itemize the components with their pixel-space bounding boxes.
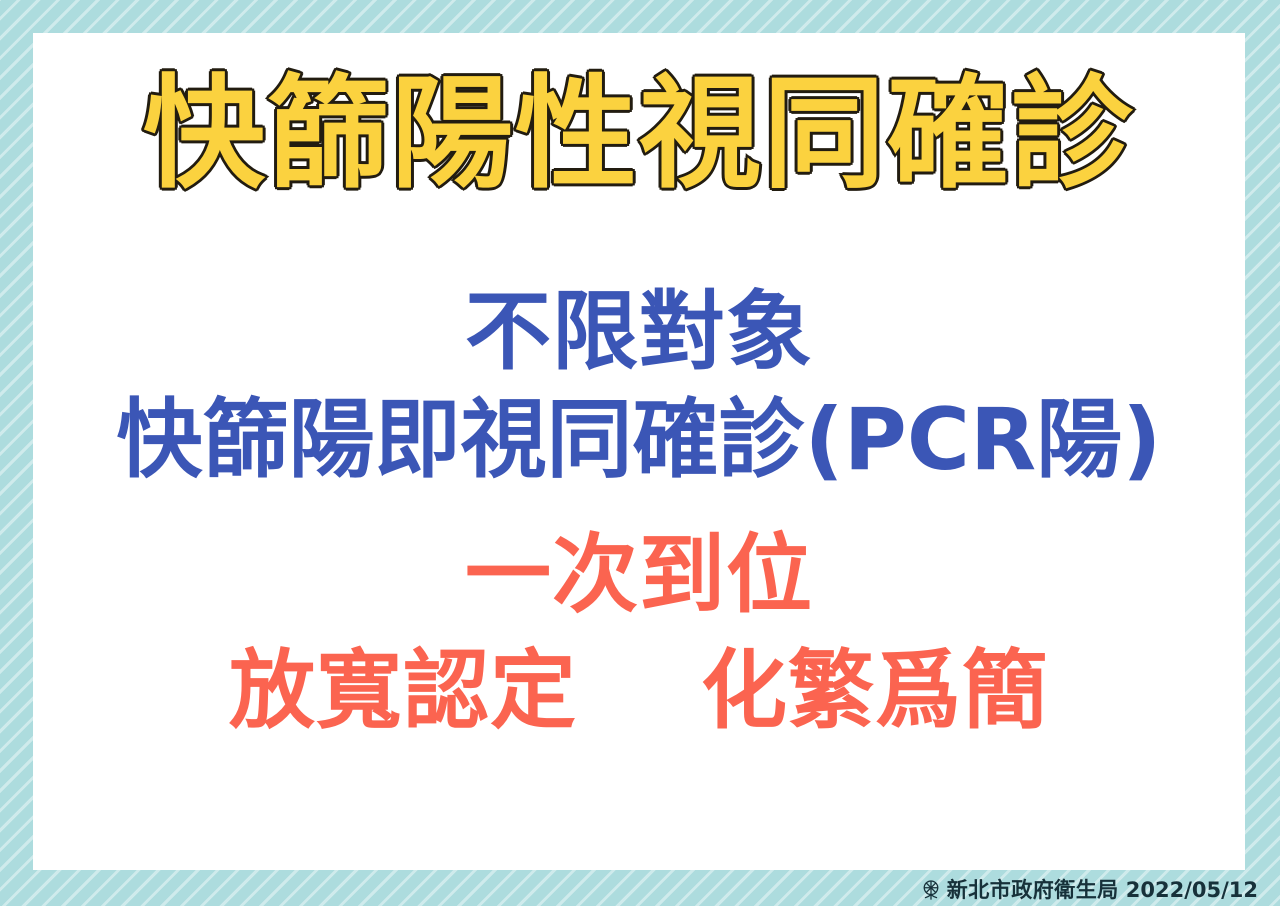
message-line-4-right: 化繁爲簡 xyxy=(701,641,1049,741)
poster-canvas: 快篩陽性視同確診 不限對象 快篩陽即視同確診(PCR陽) 一次到位 放寬認定 化… xyxy=(0,0,1280,906)
footer-date: 2022/05/12 xyxy=(1126,880,1258,901)
footer-credit: 新北市政府衛生局 2022/05/12 xyxy=(919,878,1258,902)
message-block: 不限對象 快篩陽即視同確診(PCR陽) 一次到位 放寬認定 化繁爲簡 xyxy=(33,278,1245,745)
footer-agency-name: 新北市政府衛生局 xyxy=(947,880,1119,901)
white-content-card: 快篩陽性視同確診 不限對象 快篩陽即視同確診(PCR陽) 一次到位 放寬認定 化… xyxy=(33,33,1245,870)
message-line-4-left: 放寬認定 xyxy=(229,641,577,741)
page-title: 快篩陽性視同確診 xyxy=(33,69,1245,201)
message-line-1: 不限對象 xyxy=(33,278,1245,386)
message-line-2: 快篩陽即視同確診(PCR陽) xyxy=(33,386,1245,494)
message-line-4: 放寬認定 化繁爲簡 xyxy=(33,637,1245,745)
message-line-3: 一次到位 xyxy=(33,521,1245,629)
new-taipei-city-emblem-icon xyxy=(919,878,943,902)
